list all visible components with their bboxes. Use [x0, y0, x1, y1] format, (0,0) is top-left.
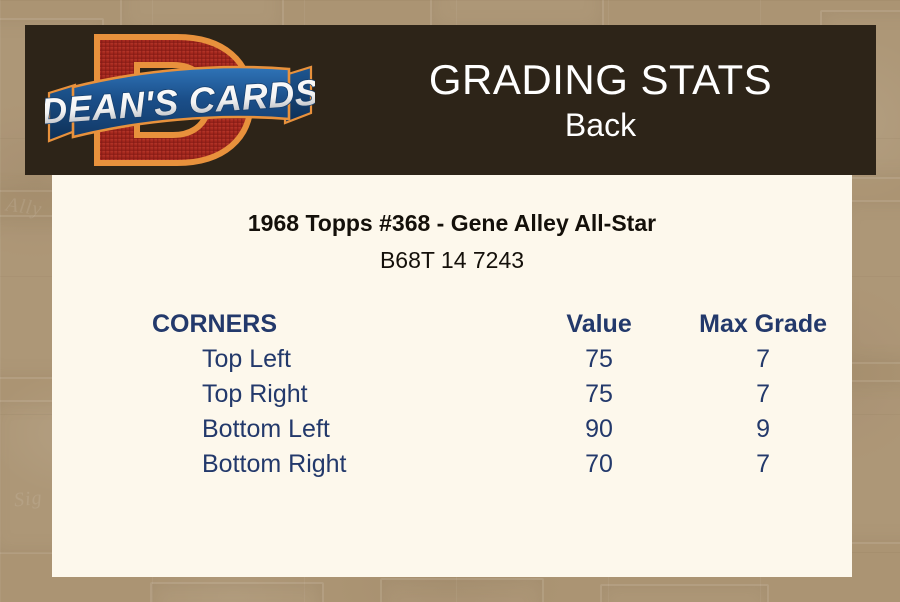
card-serial-number: B68T 14 7243: [52, 247, 852, 274]
column-header-value: Value: [524, 307, 674, 342]
table-body: Top Left 75 7 Top Right 75 7 Bottom Left…: [152, 342, 852, 482]
background-card-tile: [380, 578, 544, 602]
page-root: Sig Ally: [0, 0, 900, 602]
row-value: 75: [524, 342, 674, 377]
logo-wordmark: DEAN'S CARDS: [45, 71, 315, 131]
table-header-row: CORNERS Value Max Grade: [152, 307, 852, 342]
table-row: Bottom Left 90 9: [152, 412, 852, 447]
row-label: Top Right: [152, 377, 524, 412]
grading-stats-table: CORNERS Value Max Grade Top Left 75 7 To…: [152, 307, 852, 482]
column-header-max-grade: Max Grade: [674, 307, 852, 342]
table-row: Bottom Right 70 7: [152, 447, 852, 482]
row-value: 90: [524, 412, 674, 447]
background-signature: Ally: [5, 194, 44, 222]
header-titles: GRADING STATS Back: [325, 25, 876, 175]
background-card-tile: [150, 582, 324, 602]
header-bar: DEAN'S CARDS GRADING STATS Back: [25, 25, 876, 175]
card-title: 1968 Topps #368 - Gene Alley All-Star: [52, 210, 852, 237]
row-max-grade: 7: [674, 342, 852, 377]
row-value: 70: [524, 447, 674, 482]
content-panel: 1968 Topps #368 - Gene Alley All-Star B6…: [52, 175, 852, 577]
row-label: Bottom Right: [152, 447, 524, 482]
page-title: GRADING STATS: [429, 55, 772, 105]
row-value: 75: [524, 377, 674, 412]
row-max-grade: 7: [674, 377, 852, 412]
row-label: Bottom Left: [152, 412, 524, 447]
background-card-tile: [600, 584, 769, 602]
table-header: CORNERS Value Max Grade: [152, 307, 852, 342]
row-max-grade: 7: [674, 447, 852, 482]
row-max-grade: 9: [674, 412, 852, 447]
logo-ribbon: DEAN'S CARDS: [45, 67, 315, 141]
background-signature: Sig: [13, 487, 44, 513]
deans-cards-logo[interactable]: DEAN'S CARDS: [45, 27, 315, 173]
row-label: Top Left: [152, 342, 524, 377]
column-header-corners: CORNERS: [152, 307, 524, 342]
table-row: Top Left 75 7: [152, 342, 852, 377]
table-row: Top Right 75 7: [152, 377, 852, 412]
page-subtitle: Back: [565, 105, 636, 145]
